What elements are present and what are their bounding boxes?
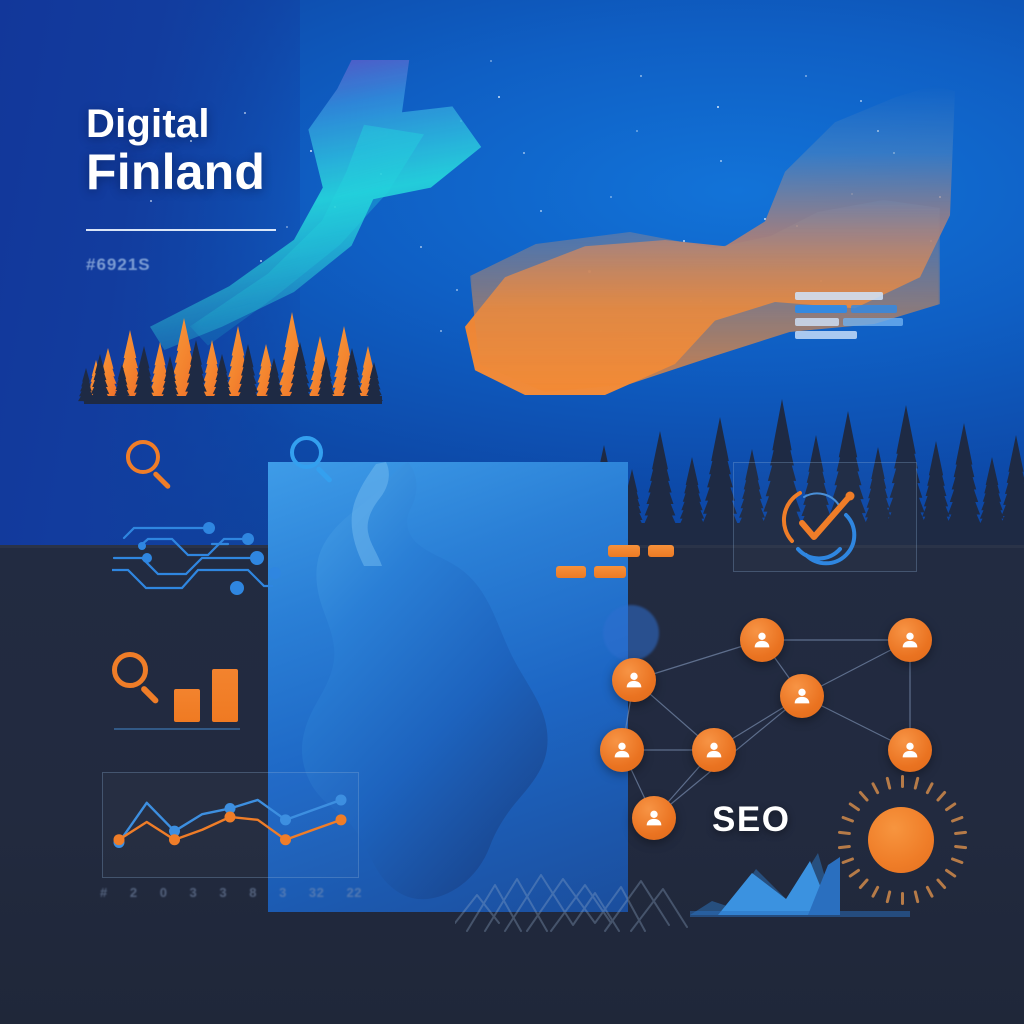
star [498, 96, 500, 98]
chart-point [336, 814, 347, 825]
dash-marker [608, 545, 640, 557]
network-node[interactable] [600, 728, 644, 772]
chart-point [280, 814, 291, 825]
star [610, 196, 612, 198]
gauge-tick [944, 802, 956, 812]
gauge-tick [944, 868, 956, 878]
text-bar [795, 318, 839, 326]
dash-marker [594, 566, 626, 578]
search-icon[interactable] [290, 436, 342, 488]
gauge-tick [913, 890, 919, 903]
gauge-tick [871, 782, 880, 795]
star [636, 130, 638, 132]
x-axis-tick-label: 0 [160, 885, 168, 900]
chart-point [114, 834, 125, 845]
x-axis-tick-label: 2 [130, 885, 138, 900]
search-icon[interactable] [126, 440, 178, 492]
star [805, 75, 807, 77]
person-icon [643, 807, 665, 829]
bar [212, 669, 238, 722]
star [420, 246, 422, 248]
star [720, 160, 722, 162]
text-bar-row [795, 305, 905, 313]
network-node[interactable] [632, 796, 676, 840]
gauge-tick [951, 857, 964, 864]
star [310, 150, 312, 152]
star [640, 75, 642, 77]
chart-point [336, 794, 347, 805]
star [440, 330, 442, 332]
network-node[interactable] [740, 618, 784, 662]
title-block: Digital Finland #6921S [86, 104, 276, 275]
gauge-tick [913, 777, 919, 790]
star [523, 152, 525, 154]
chart-point [169, 834, 180, 845]
bar [174, 689, 200, 722]
x-axis-tick-label: 3 [279, 885, 287, 900]
network-node[interactable] [692, 728, 736, 772]
gauge-tick [838, 831, 851, 836]
text-bar-row [795, 331, 905, 339]
infographic-poster: Digital Finland #6921S [0, 0, 1024, 1024]
text-bar [795, 305, 847, 313]
search-analytics-icon[interactable] [112, 640, 242, 730]
network-node[interactable] [780, 674, 824, 718]
network-node[interactable] [612, 658, 656, 702]
text-bar-row [795, 318, 905, 326]
star [717, 106, 719, 108]
gauge-tick [885, 777, 891, 790]
title-divider [86, 229, 276, 231]
person-icon [611, 739, 633, 761]
chart-x-axis-labels: #2033833222 [100, 885, 362, 900]
circuit-board-icon [112, 522, 317, 602]
gauge-tick [925, 782, 934, 795]
underline-rule [114, 728, 240, 730]
star [490, 60, 492, 62]
gauge-tick [936, 878, 947, 890]
x-axis-tick-label: 3 [219, 885, 227, 900]
x-axis-tick-label: # [100, 885, 108, 900]
x-axis-tick-label: 32 [309, 885, 324, 900]
person-icon [751, 629, 773, 651]
dashboard-card[interactable] [733, 462, 917, 572]
gauge-tick [936, 790, 947, 802]
star [540, 210, 542, 212]
gauge-tick [954, 845, 967, 850]
gauge-tick [841, 816, 854, 823]
text-bar [795, 292, 883, 300]
star [286, 226, 288, 228]
traffic-trend-chart [105, 778, 355, 873]
person-icon [703, 739, 725, 761]
star [860, 100, 862, 102]
star [683, 240, 685, 242]
text-bar [795, 331, 857, 339]
placeholder-text-bars [795, 292, 905, 344]
star [456, 289, 458, 291]
gauge-tick [848, 802, 860, 812]
search-icon [112, 652, 168, 708]
x-axis-tick-label: 3 [190, 885, 198, 900]
page-title-line2: Finland [86, 146, 276, 199]
gauge-tick [951, 816, 964, 823]
network-node[interactable] [888, 618, 932, 662]
page-title-line1: Digital [86, 104, 276, 144]
text-bar [851, 305, 897, 313]
gauge-tick [954, 831, 967, 836]
gauge-tick [925, 885, 934, 898]
person-icon [899, 629, 921, 651]
person-icon [791, 685, 813, 707]
x-axis-tick-label: 22 [346, 885, 361, 900]
chart-point [225, 811, 236, 822]
mountain-area-shape [690, 845, 910, 923]
x-axis-tick-label: 8 [249, 885, 257, 900]
network-node[interactable] [888, 728, 932, 772]
text-bar [843, 318, 903, 326]
forest-silhouette-left [78, 300, 388, 410]
dash-marker [648, 545, 674, 557]
chart-point [280, 834, 291, 845]
dash-marker [556, 566, 586, 578]
gauge-tick [901, 775, 904, 788]
subtitle-garbled: #6921S [86, 255, 276, 275]
seo-label: SEO [712, 800, 790, 840]
person-icon [623, 669, 645, 691]
gauge-tick [858, 790, 869, 802]
growth-check-icon [734, 463, 916, 571]
person-icon [899, 739, 921, 761]
text-bar-row [795, 292, 905, 300]
